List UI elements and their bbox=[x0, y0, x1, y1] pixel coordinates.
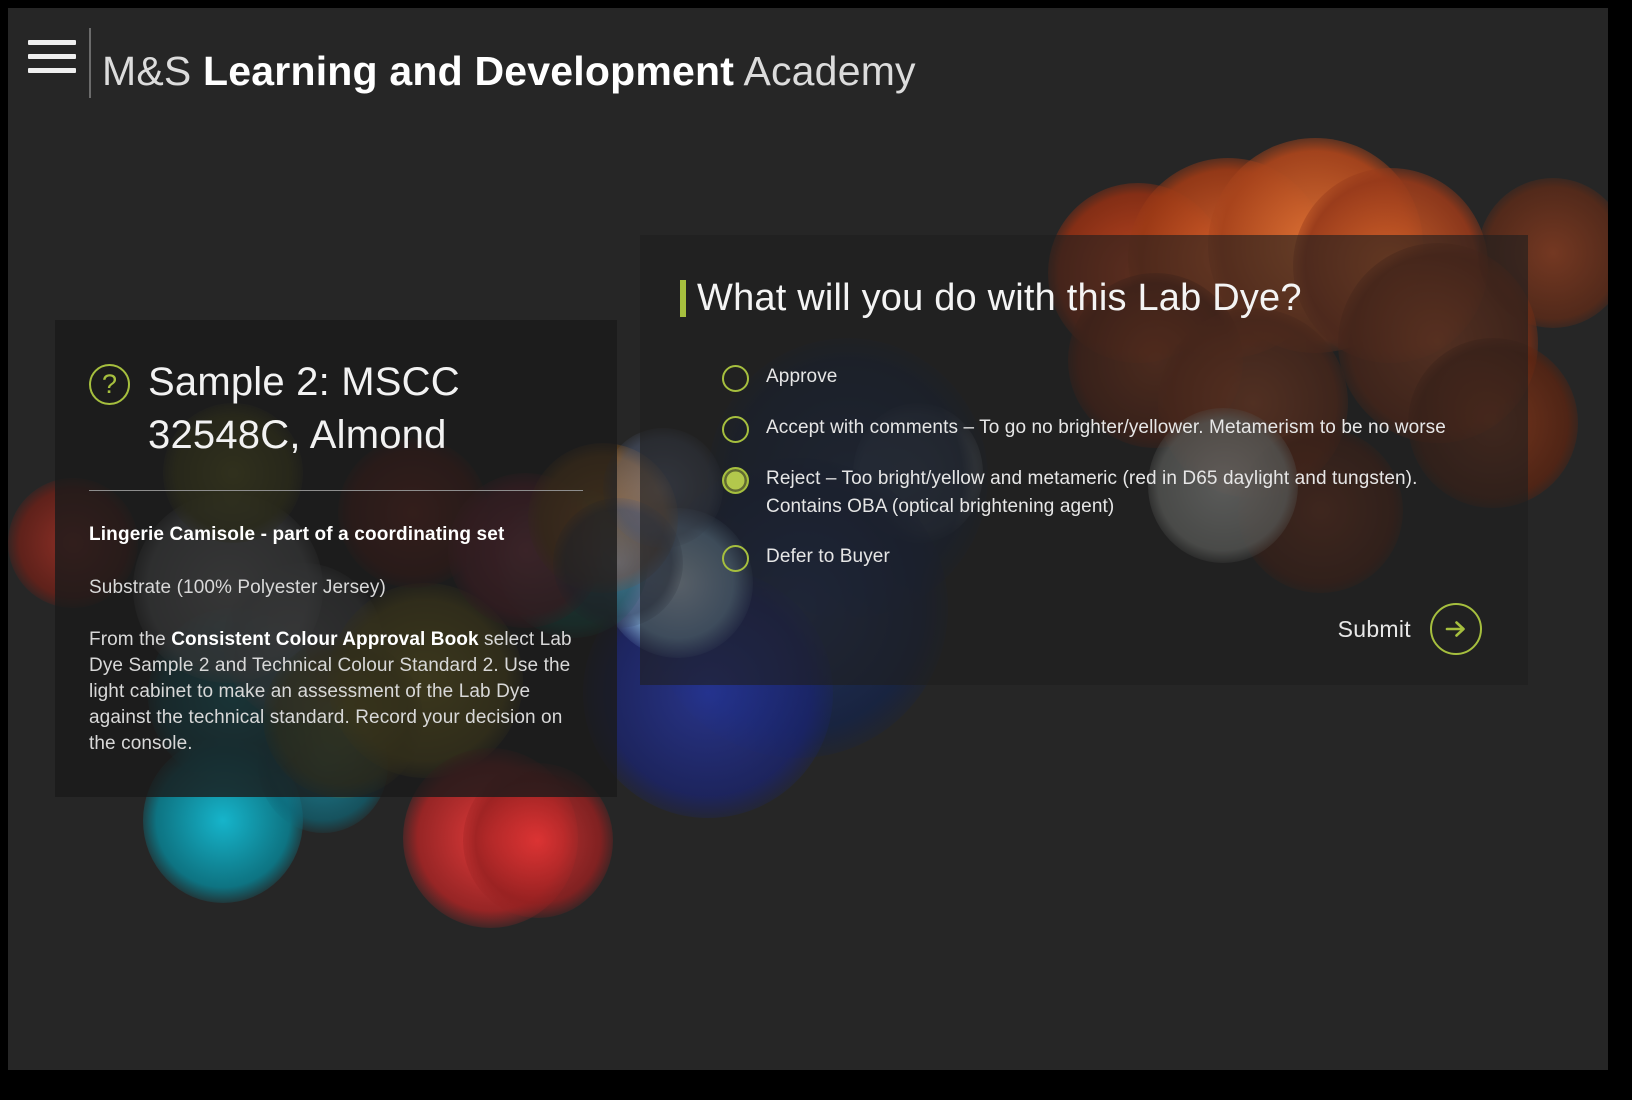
menu-bar-1 bbox=[28, 40, 76, 45]
app-frame: M&S Learning and Development Academy ? S… bbox=[0, 0, 1632, 1100]
quiz-option-label: Accept with comments – To go no brighter… bbox=[766, 414, 1446, 442]
info-card-header: ? Sample 2: MSCC 32548C, Almond bbox=[89, 356, 583, 462]
instruction-bold: Consistent Colour Approval Book bbox=[171, 629, 478, 650]
hamburger-menu-icon[interactable] bbox=[24, 32, 80, 80]
brand-title: M&S Learning and Development Academy bbox=[102, 40, 916, 102]
arrow-right-circle-icon[interactable] bbox=[1430, 603, 1482, 655]
brand-prefix: M&S bbox=[102, 48, 203, 94]
menu-bar-2 bbox=[28, 54, 76, 59]
quiz-option-label: Defer to Buyer bbox=[766, 543, 890, 571]
quiz-option-defer-to-buyer[interactable]: Defer to Buyer bbox=[722, 543, 1488, 572]
submit-button-label: Submit bbox=[1338, 616, 1411, 643]
quiz-options-list: Approve Accept with comments – To go no … bbox=[680, 363, 1488, 572]
menu-bar-3 bbox=[28, 68, 76, 73]
radio-button-selected-icon[interactable] bbox=[722, 467, 749, 494]
title-accent-bar bbox=[680, 280, 686, 317]
app-stage: M&S Learning and Development Academy ? S… bbox=[8, 8, 1608, 1070]
substrate-text: Substrate (100% Polyester Jersey) bbox=[89, 575, 583, 601]
quiz-option-label: Reject – Too bright/yellow and metameric… bbox=[766, 465, 1466, 521]
sample-info-card: ? Sample 2: MSCC 32548C, Almond Lingerie… bbox=[55, 320, 617, 797]
brand-suffix: Academy bbox=[734, 48, 916, 94]
product-description: Lingerie Camisole - part of a coordinati… bbox=[89, 521, 583, 549]
submit-button[interactable]: Submit bbox=[1338, 603, 1482, 655]
radio-button-icon[interactable] bbox=[722, 416, 749, 443]
instruction-text: From the Consistent Colour Approval Book… bbox=[89, 627, 583, 757]
quiz-option-approve[interactable]: Approve bbox=[722, 363, 1488, 392]
quiz-option-accept-with-comments[interactable]: Accept with comments – To go no brighter… bbox=[722, 414, 1488, 443]
instruction-prefix: From the bbox=[89, 629, 171, 650]
question-mark-circle-icon[interactable]: ? bbox=[89, 364, 130, 405]
radio-button-icon[interactable] bbox=[722, 545, 749, 572]
quiz-question: What will you do with this Lab Dye? bbox=[680, 273, 1488, 323]
quiz-option-reject[interactable]: Reject – Too bright/yellow and metameric… bbox=[722, 465, 1488, 521]
info-card-body: Lingerie Camisole - part of a coordinati… bbox=[89, 491, 583, 757]
quiz-panel: What will you do with this Lab Dye? Appr… bbox=[640, 235, 1528, 685]
quiz-question-text: What will you do with this Lab Dye? bbox=[697, 273, 1302, 323]
header-divider bbox=[89, 28, 91, 98]
quiz-option-label: Approve bbox=[766, 363, 837, 391]
brand-emphasis: Learning and Development bbox=[203, 48, 734, 94]
radio-button-icon[interactable] bbox=[722, 365, 749, 392]
page-title: Sample 2: MSCC 32548C, Almond bbox=[148, 356, 583, 462]
app-header: M&S Learning and Development Academy bbox=[8, 8, 1608, 123]
